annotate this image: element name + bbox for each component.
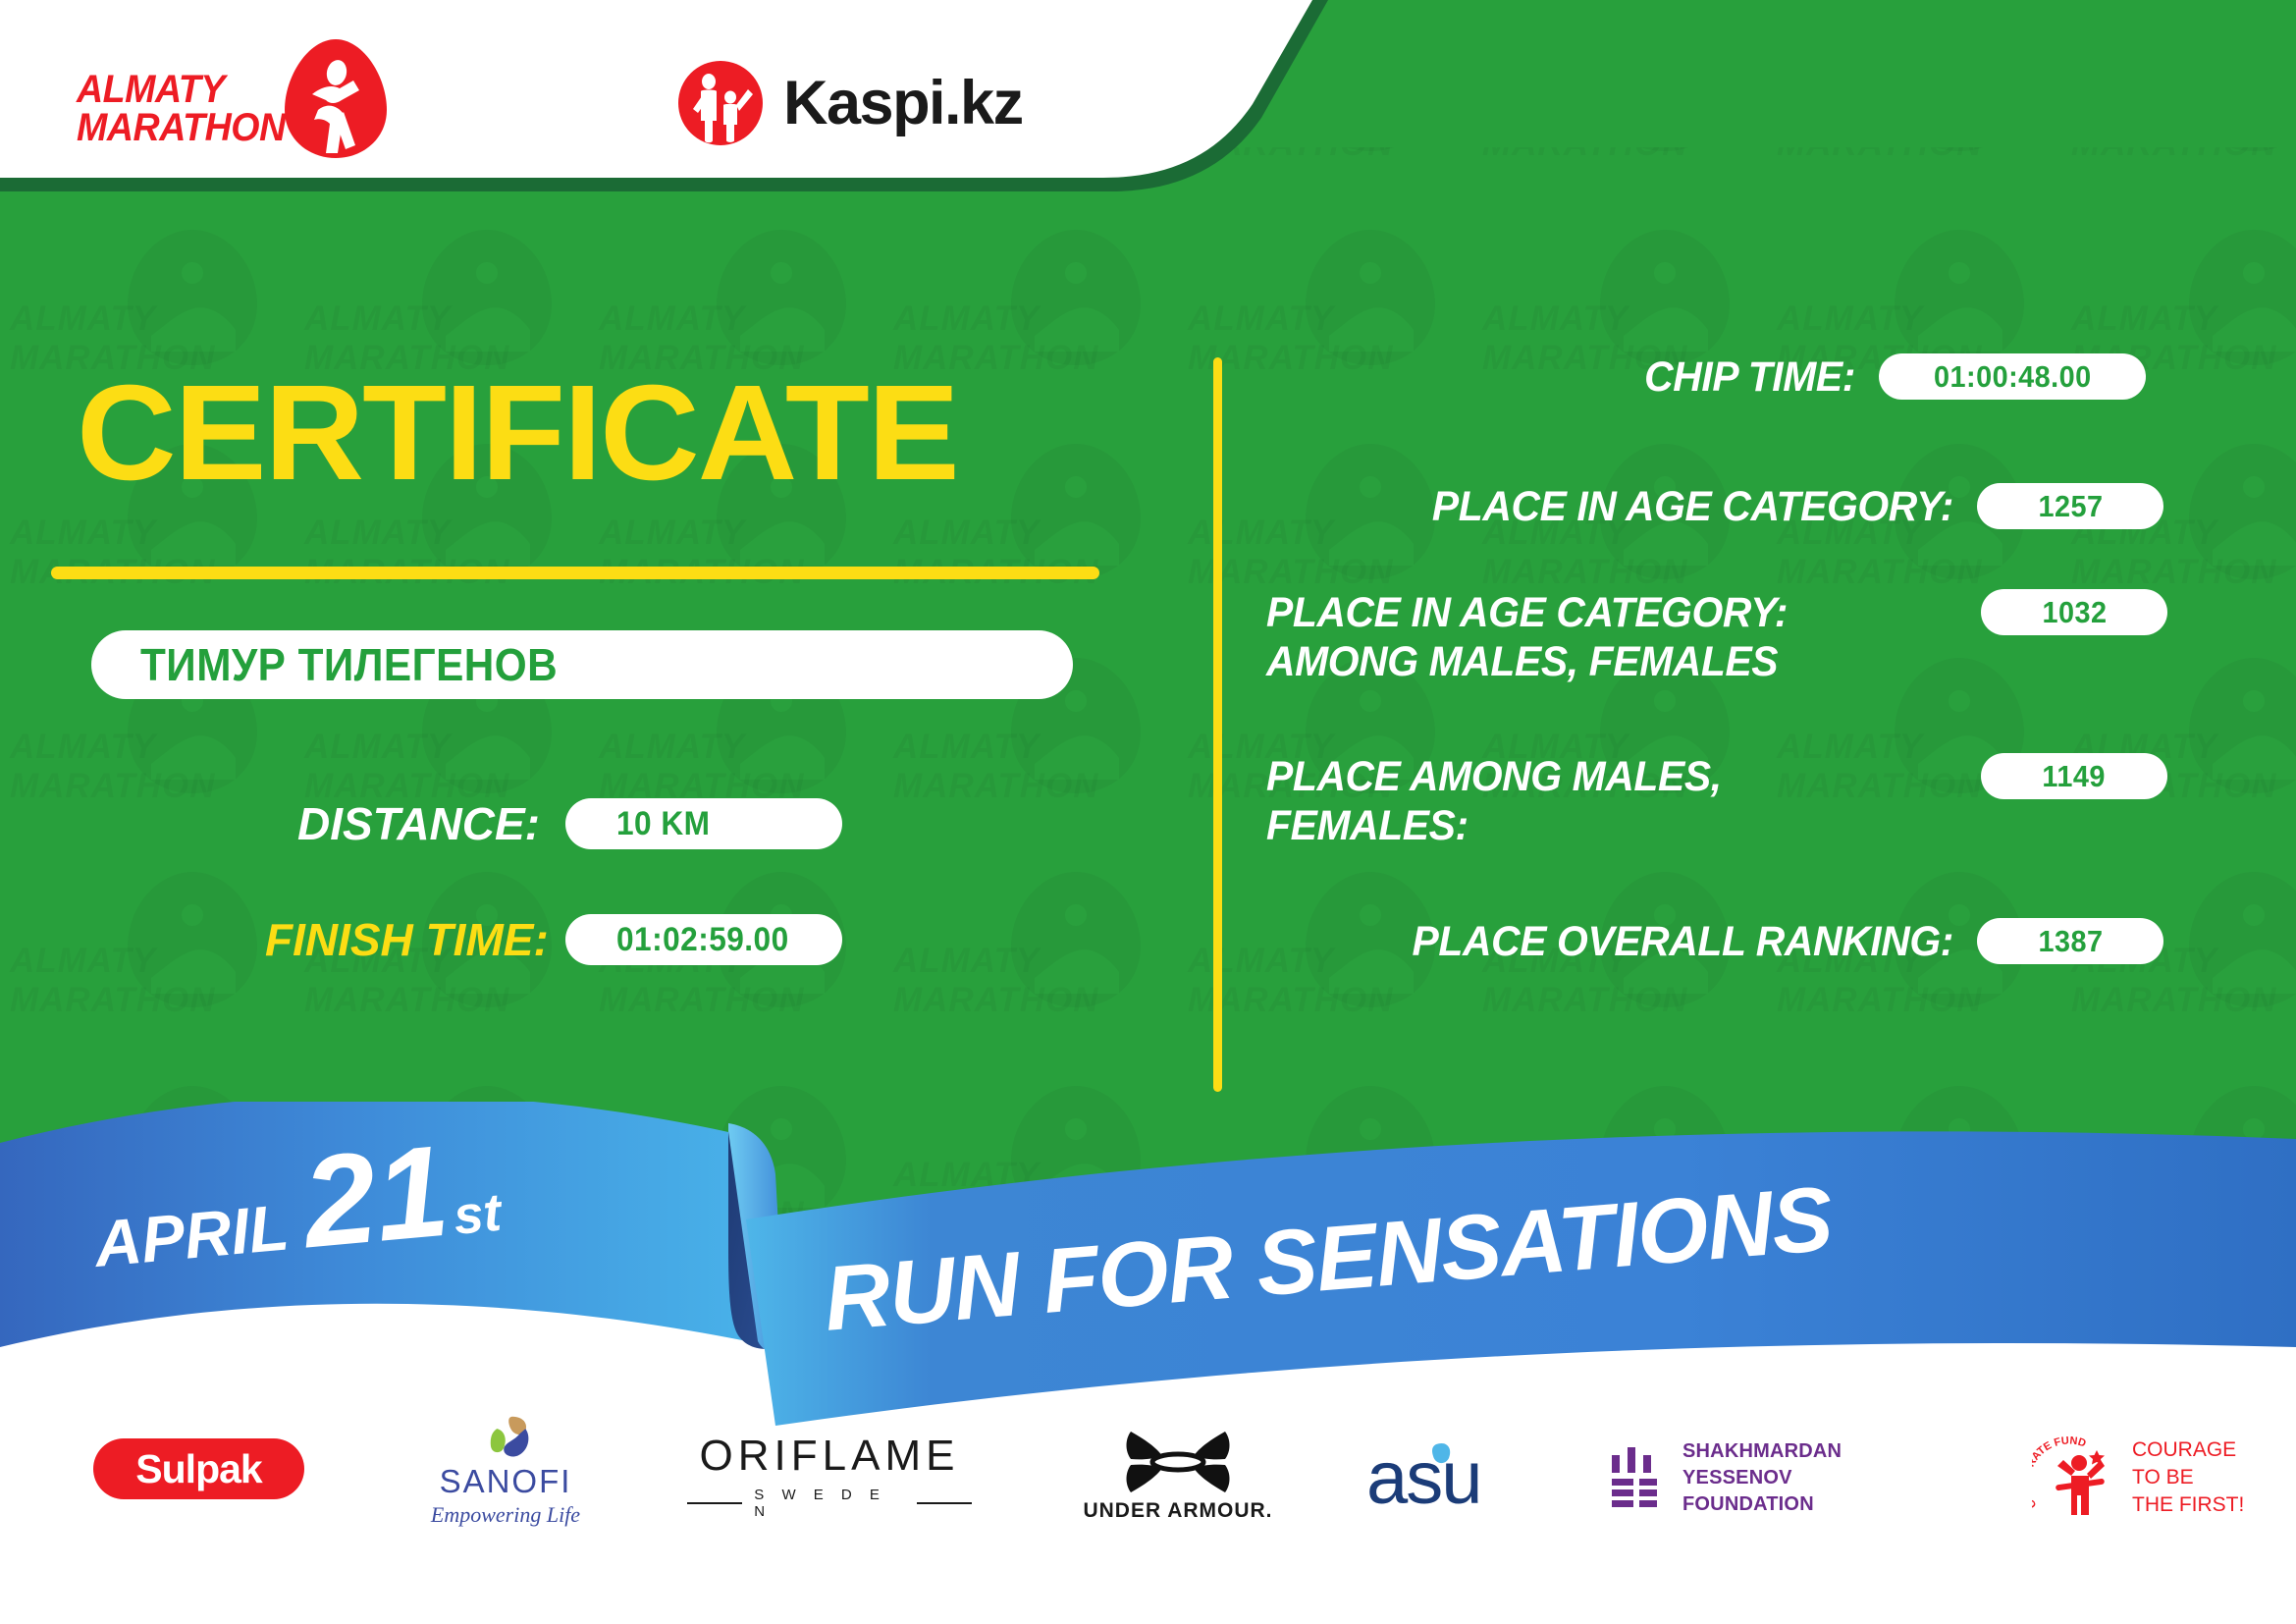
- courage-line-3: THE FIRST!: [2132, 1491, 2244, 1519]
- result-row-chip-time: CHIP TIME: 01:00:48.00: [1266, 353, 2248, 403]
- oriflame-tagline-row: S W E D E N: [687, 1487, 972, 1520]
- place-among-males-females-value-pill: 1149: [1981, 753, 2167, 799]
- label-line-2: FEMALES:: [1266, 802, 1761, 851]
- yessenov-bars-icon: [1610, 1447, 1665, 1508]
- place-among-males-females-label: PLACE AMONG MALES, FEMALES:: [1266, 753, 1761, 851]
- sanofi-tagline: Empowering Life: [431, 1502, 580, 1528]
- finish-time-value: 01:02:59.00: [616, 921, 789, 959]
- result-row-place-age-category-among: PLACE IN AGE CATEGORY: AMONG MALES, FEMA…: [1266, 589, 2248, 687]
- finish-time-label: FINISH TIME:: [265, 913, 540, 966]
- kaspi-family-icon: [677, 60, 764, 146]
- sponsor-logo-oriflame: ORIFLAME S W E D E N: [687, 1436, 972, 1515]
- almaty-marathon-wordmark: ALMATY MARATHON: [77, 71, 275, 147]
- place-age-category-value-pill: 1257: [1977, 483, 2163, 529]
- kaspi-logo: Kaspi.kz: [677, 59, 1023, 147]
- logo-line-1: ALMATY: [77, 71, 275, 109]
- kaspi-wordmark: Kaspi.kz: [783, 68, 1023, 138]
- certificate-header: ALMATY MARATHON Kaspi.kz: [0, 0, 1276, 191]
- chip-time-label: CHIP TIME:: [1296, 353, 1855, 403]
- label-line-1: PLACE IN AGE CATEGORY:: [1266, 589, 1844, 638]
- almaty-marathon-logo: ALMATY MARATHON: [77, 37, 400, 160]
- distance-label: DISTANCE:: [265, 797, 540, 850]
- corporate-fund-runner-icon: CORPORATE FUND: [2032, 1436, 2122, 1519]
- place-age-category-among-label: PLACE IN AGE CATEGORY: AMONG MALES, FEMA…: [1266, 589, 1844, 687]
- sulpak-wordmark: Sulpak: [135, 1446, 261, 1492]
- vertical-divider: [1213, 357, 1222, 1092]
- oriflame-tagline: S W E D E N: [754, 1487, 904, 1520]
- place-age-category-value: 1257: [2038, 489, 2103, 524]
- svg-text:CORPORATE FUND: CORPORATE FUND: [2032, 1436, 2088, 1510]
- event-day: 21: [299, 1139, 453, 1255]
- asu-wordmark-icon: asu: [1364, 1427, 1541, 1525]
- result-row-place-age-category: PLACE IN AGE CATEGORY: 1257: [1266, 483, 2248, 532]
- distance-value: 10 KM: [616, 805, 710, 843]
- yessenov-wordmark: SHAKHMARDAN YESSENOV FOUNDATION: [1682, 1438, 1953, 1518]
- result-row-place-overall-ranking: PLACE OVERALL RANKING: 1387: [1266, 918, 2248, 967]
- title-underline-rule: [51, 567, 1099, 579]
- place-age-category-among-value-pill: 1032: [1981, 589, 2167, 635]
- courage-wordmark: COURAGE TO BE THE FIRST!: [2132, 1436, 2244, 1518]
- distance-value-pill: 10 KM: [565, 798, 842, 849]
- finish-time-value-pill: 01:02:59.00: [565, 914, 842, 965]
- courage-line-2: TO BE: [2132, 1464, 2244, 1491]
- courage-line-1: COURAGE: [2132, 1436, 2244, 1464]
- athlete-name-value: ТИМУР ТИЛЕГЕНОВ: [140, 638, 558, 691]
- place-overall-ranking-value-pill: 1387: [1977, 918, 2163, 964]
- sponsor-logo-strip: Sulpak SANOFI Empowering Life ORIFLAME S…: [0, 1429, 2296, 1586]
- under-armour-wordmark: UNDER ARMOUR.: [1083, 1499, 1272, 1523]
- place-among-males-females-value: 1149: [2043, 759, 2106, 794]
- sponsor-logo-asu: asu: [1364, 1427, 1541, 1525]
- athlete-name-field: ТИМУР ТИЛЕГЕНОВ: [91, 630, 1073, 699]
- rule-right: [917, 1502, 972, 1504]
- sponsor-logo-sulpak: Sulpak: [93, 1438, 304, 1499]
- yessenov-line-2: FOUNDATION: [1682, 1491, 1953, 1518]
- finish-time-row: FINISH TIME: 01:02:59.00: [265, 913, 842, 966]
- event-date-ribbon: APRIL 21 st RUN FOR SENSATIONS: [0, 1102, 2296, 1440]
- place-age-category-label: PLACE IN AGE CATEGORY:: [1301, 483, 1953, 532]
- page-title: CERTIFICATE: [77, 365, 958, 501]
- sponsor-logo-yessenov-foundation: SHAKHMARDAN YESSENOV FOUNDATION: [1610, 1433, 1953, 1523]
- chip-time-value: 01:00:48.00: [1934, 359, 2092, 395]
- place-overall-ranking-value: 1387: [2038, 924, 2103, 959]
- yessenov-line-1: SHAKHMARDAN YESSENOV: [1682, 1438, 1953, 1491]
- place-overall-ranking-label: PLACE OVERALL RANKING:: [1301, 918, 1953, 967]
- place-age-category-among-value: 1032: [2042, 595, 2107, 630]
- label-line-2: AMONG MALES, FEMALES: [1266, 638, 1844, 687]
- svg-text:asu: asu: [1366, 1436, 1481, 1520]
- distance-row: DISTANCE: 10 KM: [265, 797, 842, 850]
- sanofi-wordmark: SANOFI: [440, 1463, 572, 1500]
- result-row-place-among-males-females: PLACE AMONG MALES, FEMALES: 1149: [1266, 753, 2248, 851]
- rule-left: [687, 1502, 742, 1504]
- event-day-suffix: st: [452, 1182, 504, 1247]
- chip-time-value-pill: 01:00:48.00: [1879, 353, 2146, 400]
- sponsor-logo-courage-to-be-the-first: CORPORATE FUND COURAGE TO BE THE FIRST!: [2032, 1429, 2277, 1527]
- logo-line-2: MARATHON: [77, 109, 275, 147]
- label-line-1: PLACE AMONG MALES,: [1266, 753, 1761, 802]
- runner-drop-icon: [283, 37, 389, 160]
